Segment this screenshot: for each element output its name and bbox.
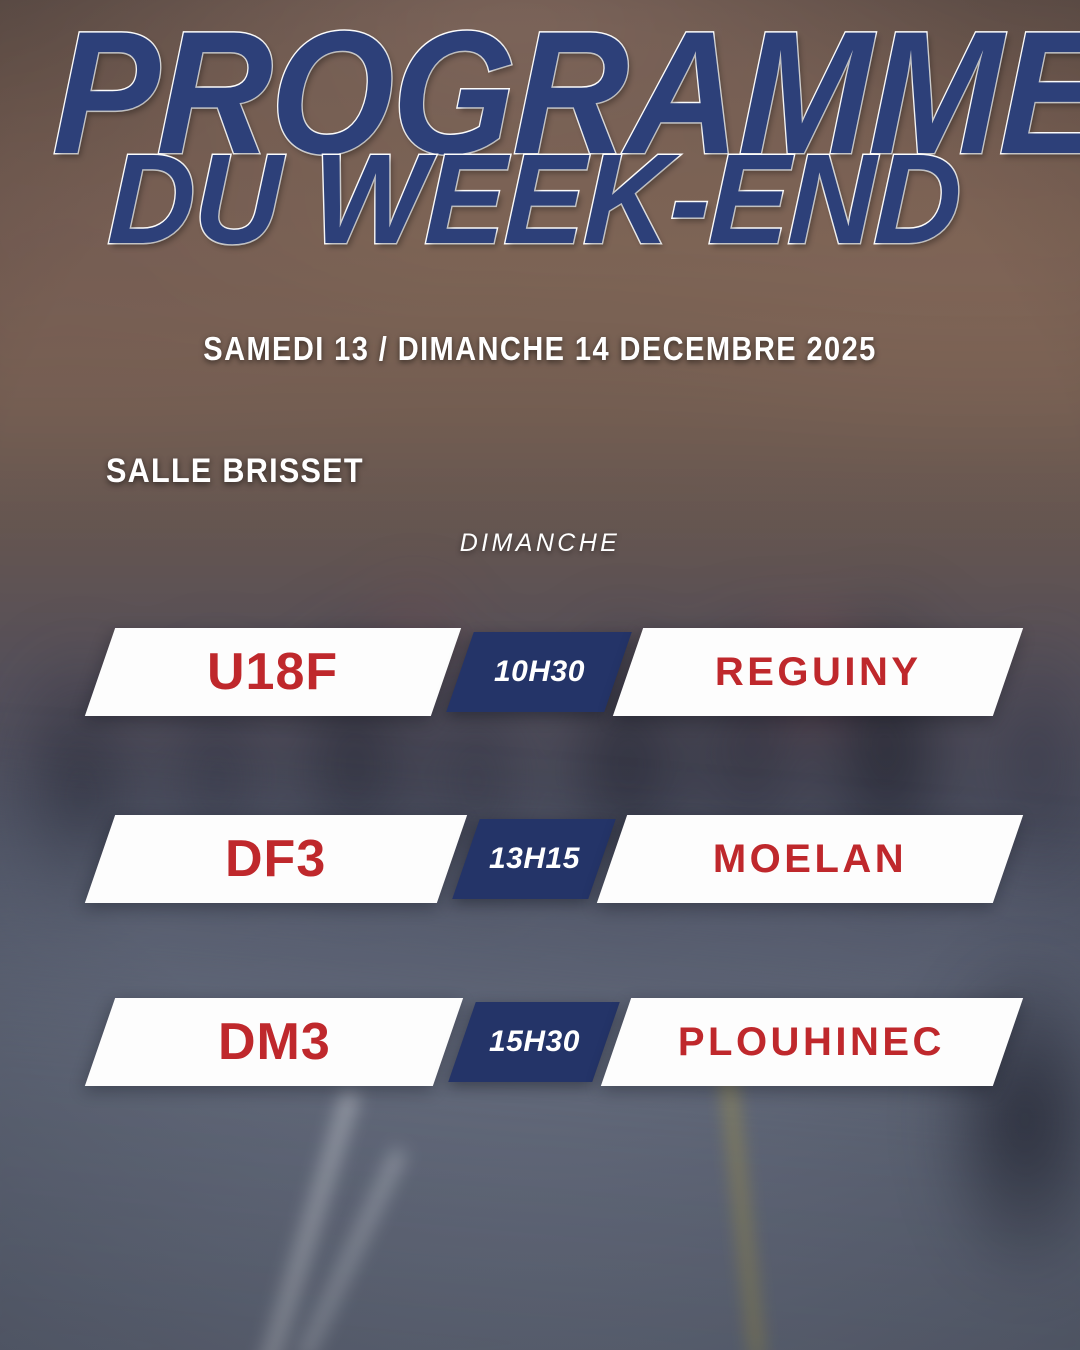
match-category-label: DM3 <box>218 1012 331 1072</box>
day-label: DIMANCHE <box>0 529 1080 558</box>
poster-date-subtitle: SAMEDI 13 / DIMANCHE 14 DECEMBRE 2025 <box>65 330 1015 368</box>
match-time-label: 15H30 <box>489 1025 580 1059</box>
match-time-label: 13H15 <box>489 842 580 876</box>
match-category-panel: U18F <box>85 628 461 716</box>
match-category-panel: DF3 <box>85 815 467 903</box>
match-opponent-label: MOELAN <box>713 837 907 882</box>
poster-content: PROGRAMME DU WEEK-END SAMEDI 13 / DIMANC… <box>0 0 1080 1350</box>
match-category-label: DF3 <box>225 829 326 889</box>
match-opponent-label: PLOUHINEC <box>678 1020 945 1065</box>
poster-title: PROGRAMME DU WEEK-END <box>0 22 1080 252</box>
match-category-panel: DM3 <box>85 998 463 1086</box>
title-line-du-week-end: DU WEEK-END <box>25 148 1044 253</box>
match-row: U18F10H30REGUINY <box>0 628 1080 716</box>
poster-root: PROGRAMME DU WEEK-END SAMEDI 13 / DIMANC… <box>0 0 1080 1350</box>
match-time-badge: 13H15 <box>452 819 616 899</box>
match-opponent-label: REGUINY <box>715 650 922 695</box>
venue-label: SALLE BRISSET <box>106 452 364 491</box>
match-opponent-panel: PLOUHINEC <box>601 998 1023 1086</box>
match-time-badge: 15H30 <box>448 1002 620 1082</box>
match-time-badge: 10H30 <box>446 632 632 712</box>
match-row: DM315H30PLOUHINEC <box>0 998 1080 1086</box>
match-time-label: 10H30 <box>494 655 585 689</box>
match-opponent-panel: MOELAN <box>597 815 1023 903</box>
match-row: DF313H15MOELAN <box>0 815 1080 903</box>
match-opponent-panel: REGUINY <box>613 628 1023 716</box>
match-category-label: U18F <box>207 642 338 702</box>
